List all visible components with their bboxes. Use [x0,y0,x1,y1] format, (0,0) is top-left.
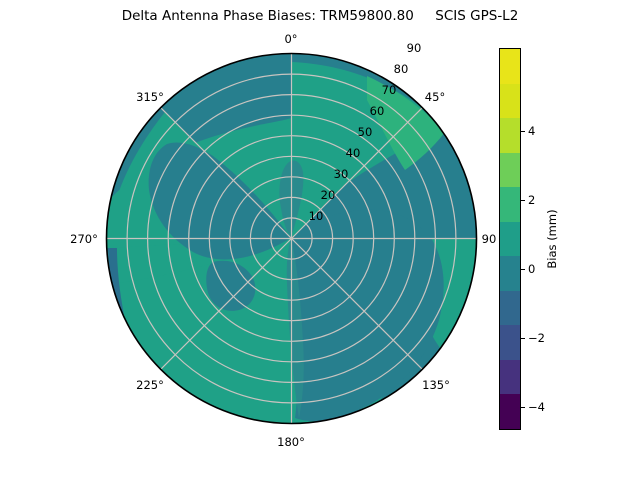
colorbar-tick-mark-4 [521,131,525,132]
colorbar-tick-mark-neg2 [521,338,525,339]
angular-tick-label-225: 225° [136,378,164,392]
colorbar-tick-mark-0 [521,269,525,270]
angular-tick-label-135: 135° [422,378,450,392]
colorbar-band-1 [500,84,520,119]
polar-plot-svg [105,52,478,425]
colorbar-band-8 [500,325,520,360]
angular-tick-label-0: 0° [284,32,297,46]
radial-tick-label-90: 90 [407,41,422,55]
radial-tick-label-50: 50 [358,125,373,139]
colorbar-tick-label-4: 4 [528,124,535,138]
colorbar-band-5 [500,222,520,257]
radial-tick-label-60: 60 [370,104,385,118]
colorbar[interactable] [499,48,521,430]
colorbar-band-9 [500,360,520,395]
colorbar-band-4 [500,187,520,222]
radial-tick-label-10: 10 [309,209,324,223]
matplotlib-figure: Delta Antenna Phase Biases: TRM59800.80 … [0,0,640,480]
colorbar-band-3 [500,153,520,188]
angular-tick-label-90: 90 [482,232,497,246]
radial-tick-label-30: 30 [334,167,349,181]
colorbar-axis-label: Bias (mm) [545,209,559,268]
colorbar-band-2 [500,118,520,153]
colorbar-band-7 [500,291,520,326]
angular-tick-label-180: 180° [277,435,305,449]
radial-tick-label-40: 40 [346,146,361,160]
colorbar-tick-label-2: 2 [528,193,535,207]
contour-band-negative-right [291,210,444,421]
colorbar-tick-mark-2 [521,200,525,201]
angular-tick-label-45: 45° [425,90,445,104]
radial-tick-label-20: 20 [321,188,336,202]
figure-title: Delta Antenna Phase Biases: TRM59800.80 … [0,8,640,24]
angular-tick-label-315: 315° [136,90,164,104]
polar-grid-spokes [107,54,477,424]
colorbar-tick-label-neg2: −2 [528,331,545,345]
polar-axes[interactable]: 10 20 30 40 50 60 70 80 90 [105,52,478,425]
radial-tick-label-70: 70 [382,83,397,97]
colorbar-tick-mark-neg4 [521,407,525,408]
radial-tick-label-80: 80 [394,62,409,76]
colorbar-tick-label-neg4: −4 [528,400,545,414]
colorbar-band-0 [500,49,520,84]
angular-tick-label-270: 270° [70,232,98,246]
colorbar-band-6 [500,256,520,291]
colorbar-band-10 [500,394,520,429]
colorbar-tick-label-0: 0 [528,262,535,276]
